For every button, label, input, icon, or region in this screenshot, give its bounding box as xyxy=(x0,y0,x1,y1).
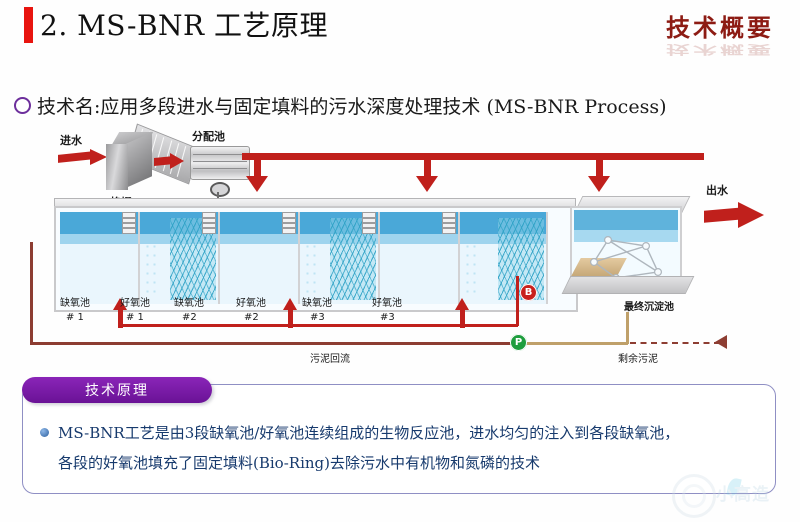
effluent-arrow-icon xyxy=(704,204,766,226)
feed-rail-riser xyxy=(516,276,519,326)
subtitle-row: 技术名:应用多段进水与固定填料的污水深度处理技术 (MS-BNR Process… xyxy=(14,92,666,119)
downfeed-arrow-1-icon xyxy=(246,176,268,192)
waste-sludge-dashed-line xyxy=(630,342,720,344)
ladder-icon-2 xyxy=(202,212,216,234)
principle-tab: 技术原理 xyxy=(22,377,212,403)
cell-label-2-name: 好氧池 xyxy=(120,294,150,309)
effluent-label: 出水 xyxy=(706,182,728,198)
page-title: 2. MS-BNR 工艺原理 xyxy=(40,4,328,44)
feed-rail xyxy=(118,324,518,327)
cell-label-5-name: 缺氧池 xyxy=(302,294,332,309)
final-clarifier xyxy=(570,192,700,310)
clarifier-base xyxy=(562,276,695,294)
cell-label-6-name: 好氧池 xyxy=(372,294,402,309)
title-accent-bar xyxy=(24,7,33,43)
distribution-tank-icon xyxy=(190,146,250,180)
return-sludge-line xyxy=(30,342,520,345)
return-sludge-riser xyxy=(30,242,33,344)
bar-screen-icon xyxy=(106,132,152,190)
downfeed-arrow-3-icon xyxy=(588,176,610,192)
return-sludge-label: 污泥回流 xyxy=(310,350,350,365)
subtitle-text: 技术名:应用多段进水与固定填料的污水深度处理技术 (MS-BNR Process… xyxy=(37,92,666,119)
clarifier-label: 最终沉淀池 xyxy=(624,298,674,313)
distribution-main-pipe xyxy=(242,153,704,160)
process-flow-diagram: 进水 格栅 分配池 xyxy=(14,126,786,366)
principle-tab-label: 技术原理 xyxy=(85,380,149,400)
sludge-draw-line xyxy=(520,342,628,345)
ring-bullet-icon xyxy=(14,97,31,114)
downfeed-arrow-2-icon xyxy=(416,176,438,192)
cell-label-2-number: # 1 xyxy=(126,312,144,323)
ladder-icon-5 xyxy=(442,212,456,234)
waste-sludge-label: 剩余污泥 xyxy=(618,350,658,365)
slide-header: 2. MS-BNR 工艺原理 技术概要 技术概要 xyxy=(0,0,800,60)
clarifier-basin xyxy=(570,206,682,282)
watermark: 小高造 xyxy=(672,472,792,516)
pump-tag: P xyxy=(510,334,527,351)
waste-sludge-arrow-icon xyxy=(715,335,727,349)
ladder-icon-3 xyxy=(282,212,296,234)
cell-label-3-name: 缺氧池 xyxy=(174,294,204,309)
cell-label-3-number: #2 xyxy=(182,312,197,323)
aeration-bubbles-2 xyxy=(304,242,320,298)
influent-arrow-icon xyxy=(58,150,110,163)
clarifier-water-surface xyxy=(574,210,678,230)
principle-line-2: 各段的好氧池填充了固定填料(Bio-Ring)去除污水中有机物和氮磷的技术 xyxy=(58,448,758,478)
influent-label: 进水 xyxy=(60,132,82,148)
ladder-icon-1 xyxy=(122,212,136,234)
header-right-label-reflection: 技术概要 xyxy=(666,42,774,60)
cell-label-1-number: # 1 xyxy=(66,312,84,323)
anoxic-feed-arrow-2-icon xyxy=(283,298,297,310)
principle-text: MS-BNR工艺是由3段缺氧池/好氧池连续组成的生物反应池，进水均匀的注入到各段… xyxy=(58,418,758,478)
distribution-tank-label: 分配池 xyxy=(192,128,225,144)
header-right-label: 技术概要 xyxy=(666,8,774,43)
aeration-bubbles-3 xyxy=(464,242,480,298)
ladder-icon-4 xyxy=(362,212,376,234)
screen-to-distribution-arrow-icon xyxy=(154,154,188,167)
waste-sludge-drop xyxy=(626,312,629,344)
dot-bullet-icon xyxy=(40,428,49,437)
cell-label-4-number: #2 xyxy=(244,312,259,323)
watermark-text: 小高造 xyxy=(716,480,770,505)
cell-label-1-name: 缺氧池 xyxy=(60,294,90,309)
slide-canvas: 2. MS-BNR 工艺原理 技术概要 技术概要 技术名:应用多段进水与固定填料… xyxy=(0,0,800,522)
bioreactor-basin xyxy=(54,198,574,308)
aeration-bubbles-1 xyxy=(144,242,160,298)
cell-label-4-name: 好氧池 xyxy=(236,294,266,309)
principle-line-1: MS-BNR工艺是由3段缺氧池/好氧池连续组成的生物反应池，进水均匀的注入到各段… xyxy=(58,418,758,448)
cell-label-5-number: #3 xyxy=(310,312,325,323)
cell-label-6-number: #3 xyxy=(380,312,395,323)
anoxic-feed-arrow-3-icon xyxy=(455,298,469,310)
watermark-swirl-icon xyxy=(672,474,716,518)
blower-tag: B xyxy=(520,284,537,301)
